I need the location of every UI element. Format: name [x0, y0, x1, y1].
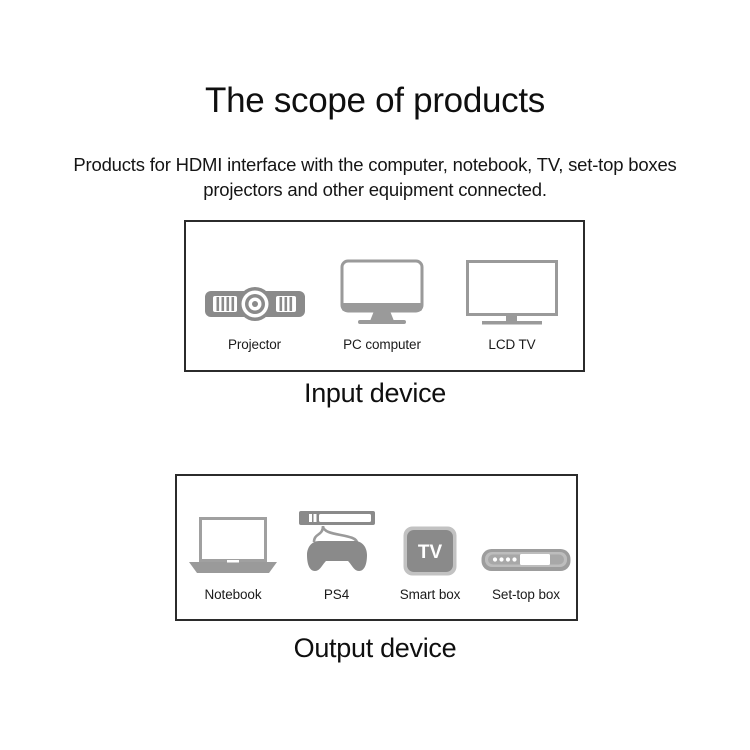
device-label-ps4: PS4: [324, 587, 349, 602]
device-label-pc-computer: PC computer: [343, 337, 421, 352]
monitor-icon: [317, 240, 447, 327]
subtitle-line-1: Products for HDMI interface with the com…: [73, 154, 676, 175]
device-item-projector: Projector: [192, 240, 317, 352]
output-device-box: Notebook PS4: [175, 474, 578, 621]
device-item-pc-computer: PC computer: [317, 240, 447, 352]
output-device-row: Notebook PS4: [177, 490, 576, 602]
device-item-notebook: Notebook: [177, 490, 289, 602]
device-item-smart-box: TV Smart box: [384, 490, 476, 602]
device-label-set-top-box: Set-top box: [492, 587, 560, 602]
device-label-smart-box: Smart box: [400, 587, 461, 602]
output-device-caption: Output device: [0, 633, 750, 664]
device-item-set-top-box: Set-top box: [476, 490, 576, 602]
input-device-caption: Input device: [0, 378, 750, 409]
set-top-box-icon: [476, 490, 576, 577]
input-device-box: Projector PC computer: [184, 220, 585, 372]
device-label-notebook: Notebook: [205, 587, 262, 602]
smart-tv-box-icon: TV: [384, 490, 476, 577]
subtitle-line-2: projectors and other equipment connected…: [0, 177, 750, 202]
device-item-lcd-tv: LCD TV: [447, 240, 577, 352]
device-label-projector: Projector: [228, 337, 281, 352]
smart-box-tv-badge: TV: [418, 542, 443, 563]
page-title: The scope of products: [0, 82, 750, 121]
product-scope-infographic: The scope of products Products for HDMI …: [0, 0, 750, 750]
laptop-icon: [177, 490, 289, 577]
input-device-row: Projector PC computer: [186, 240, 583, 352]
device-item-ps4: PS4: [289, 490, 384, 602]
lcd-tv-icon: [447, 240, 577, 327]
device-label-lcd-tv: LCD TV: [488, 337, 535, 352]
page-subtitle: Products for HDMI interface with the com…: [0, 152, 750, 202]
projector-icon: [192, 240, 317, 327]
game-console-icon: [289, 490, 384, 577]
